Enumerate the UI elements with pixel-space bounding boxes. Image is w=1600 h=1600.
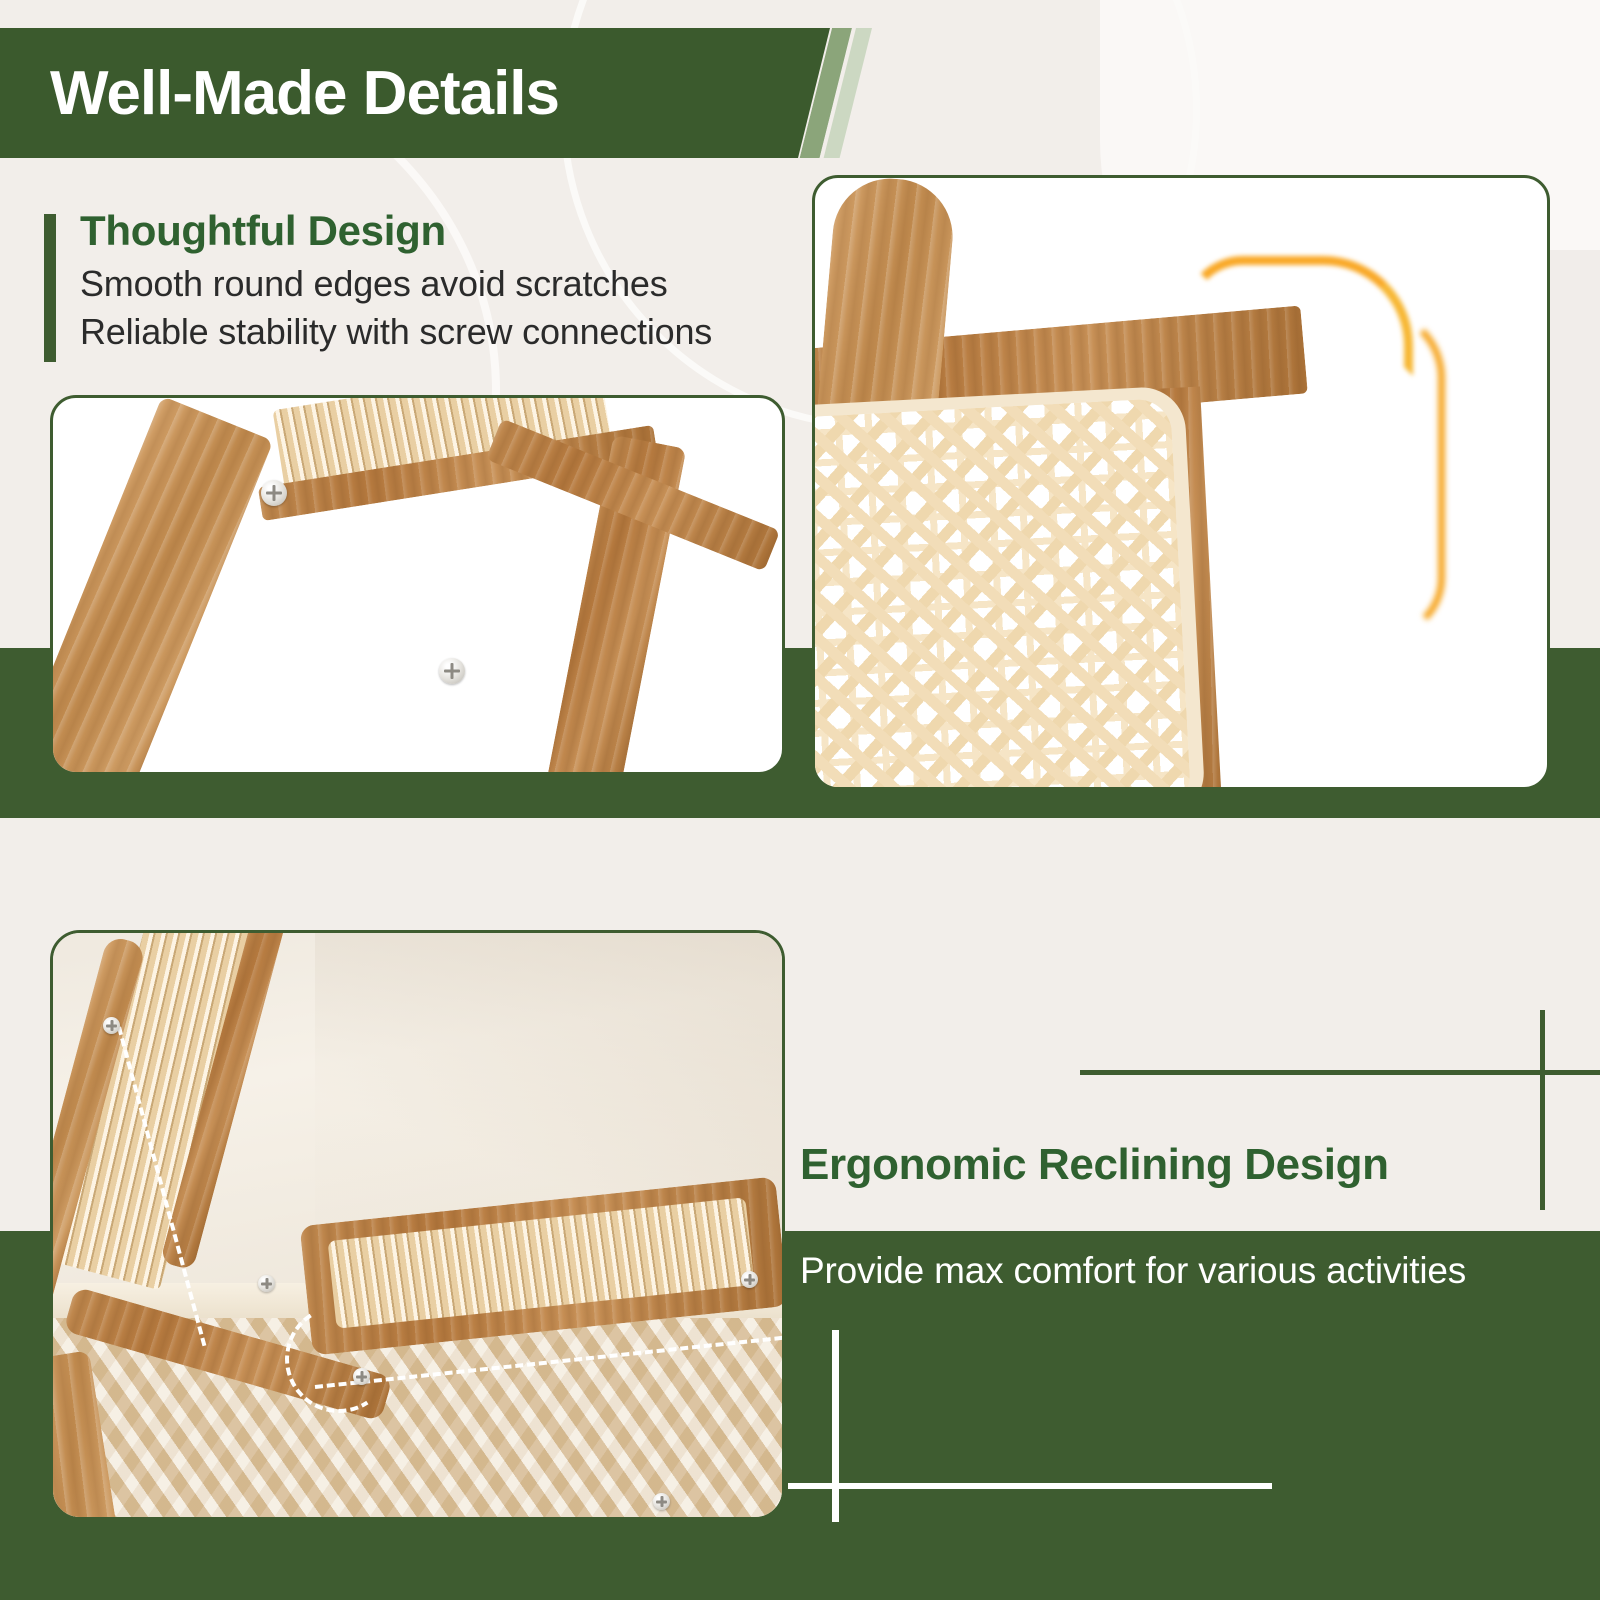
photo-card-rounded-corner	[812, 175, 1550, 790]
infographic-canvas: Well-Made Details Thoughtful Design Smoo…	[0, 0, 1600, 1600]
screw-front-leg	[653, 1493, 670, 1510]
ergonomic-heading: Ergonomic Reclining Design	[800, 1140, 1389, 1190]
header-banner-body: Well-Made Details	[0, 28, 830, 158]
accent-rule-green-vertical	[1540, 1010, 1545, 1210]
photo-card-screw-detail	[50, 395, 785, 775]
feature-text-block: Thoughtful Design Smooth round edges avo…	[44, 208, 804, 357]
feature-line-2: Reliable stability with screw connection…	[80, 308, 804, 356]
screw-back-mid	[258, 1275, 275, 1292]
screw-back-top	[103, 1017, 120, 1034]
amber-glow-trail	[1335, 308, 1445, 638]
accent-rule-white-horizontal	[788, 1483, 1272, 1489]
full-chair-scene	[53, 933, 782, 1517]
feature-accent-bar	[44, 214, 56, 362]
rattan-cane-weave	[812, 398, 1191, 790]
ergonomic-subtitle: Provide max comfort for various activiti…	[800, 1250, 1466, 1292]
screw-seat-joint	[353, 1368, 370, 1385]
chair-front-leg	[50, 396, 274, 775]
feature-line-1: Smooth round edges avoid scratches	[80, 260, 804, 308]
accent-rule-green-horizontal	[1080, 1070, 1600, 1075]
photo-card-full-chair	[50, 930, 785, 1520]
accent-rule-white-vertical	[832, 1330, 839, 1522]
screw-detail-scene	[53, 398, 782, 772]
page-title: Well-Made Details	[0, 58, 559, 129]
header-banner: Well-Made Details	[0, 28, 860, 158]
rounded-corner-scene	[815, 178, 1547, 787]
feature-text-inner: Thoughtful Design Smooth round edges avo…	[44, 208, 804, 357]
screw-seat-right	[741, 1271, 758, 1288]
screw-head-upper	[261, 480, 287, 506]
feature-heading: Thoughtful Design	[80, 208, 804, 254]
screw-head-lower	[439, 658, 465, 684]
